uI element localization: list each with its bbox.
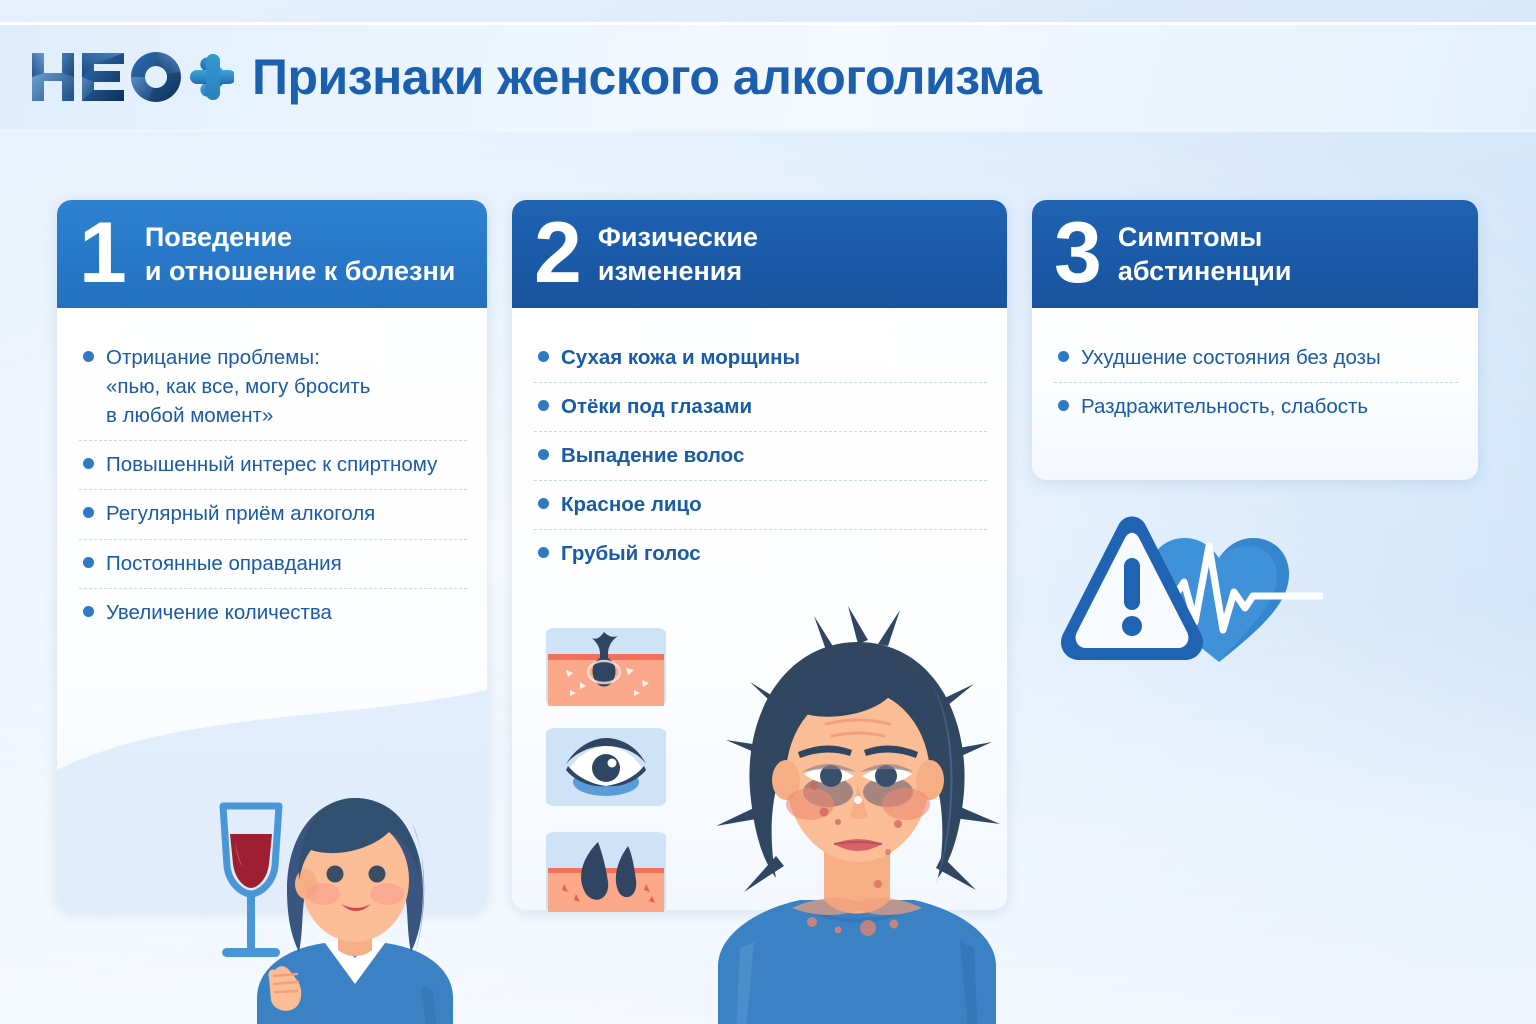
list-item-main: Отрицание проблемы: — [106, 346, 320, 369]
card-number-3: 3 — [1054, 217, 1102, 291]
card-title-3: Симптомы абстиненции — [1118, 220, 1292, 288]
bullet-dot-icon — [538, 498, 549, 509]
list-item: Грубый голос — [534, 530, 987, 578]
list-item: Постоянные оправдания — [79, 540, 467, 589]
bullet-dot-icon — [83, 351, 94, 362]
bullet-dot-icon — [538, 400, 549, 411]
list-item-text: Сухая кожа и морщины — [561, 343, 800, 372]
bullet-dot-icon — [83, 557, 94, 568]
card-number-1: 1 — [79, 217, 127, 291]
infographic-poster: Признаки женского алкоголизма 1 Поведени… — [0, 0, 1536, 1024]
card-title-2: Физические изменения — [598, 220, 758, 288]
list-item: Выпадение волос — [534, 432, 987, 481]
list-item-text: Увеличение количества — [106, 598, 332, 627]
card-body-2: Сухая кожа и морщины Отёки под глазами В… — [512, 308, 1007, 579]
list-item: Сухая кожа и морщины — [534, 334, 987, 383]
list-item: Ухудшение состояния без дозы — [1054, 334, 1458, 383]
list-item-text: Ухудшение состояния без дозы — [1081, 343, 1381, 372]
card-header-2: 2 Физические изменения — [512, 200, 1007, 308]
list-item-text: Грубый голос — [561, 539, 701, 568]
bullet-dot-icon — [538, 351, 549, 362]
card-withdrawal-symptoms: 3 Симптомы абстиненции Ухудшение состоян… — [1032, 200, 1478, 480]
list-item-text: Постоянные оправдания — [106, 549, 342, 578]
bullet-dot-icon — [83, 458, 94, 469]
list-item-text: Красное лицо — [561, 490, 702, 519]
card-title-2-line1: Физические — [598, 220, 758, 254]
warning-triangle-icon — [1061, 517, 1203, 661]
card-header-3: 3 Симптомы абстиненции — [1032, 200, 1478, 308]
list-item-sub2: в любой момент» — [106, 401, 370, 430]
list-item-text: Повышенный интерес к спиртному — [106, 450, 437, 479]
list-item-text: Отрицание проблемы: «пью, как все, могу … — [106, 343, 370, 430]
bullet-dot-icon — [1058, 351, 1069, 362]
card-title-3-line1: Симптомы — [1118, 220, 1292, 254]
list-item: Отёки под глазами — [534, 383, 987, 432]
card-physical-changes: 2 Физические изменения Сухая кожа и морщ… — [512, 200, 1007, 910]
list-item-text: Выпадение волос — [561, 441, 744, 470]
list-item: Отрицание проблемы: «пью, как все, могу … — [79, 334, 467, 441]
list-item-sub1: «пью, как все, могу бросить — [106, 372, 370, 401]
card-title-1: Поведение и отношение к болезни — [145, 220, 456, 288]
card-title-1-line2: и отношение к болезни — [145, 254, 456, 288]
bullet-dot-icon — [83, 507, 94, 518]
list-item: Раздражительность, слабость — [1054, 383, 1458, 431]
bullet-dot-icon — [83, 606, 94, 617]
bullet-dot-icon — [538, 547, 549, 558]
list-item: Регулярный приём алкоголя — [79, 490, 467, 539]
card-body-1: Отрицание проблемы: «пью, как все, могу … — [57, 308, 487, 637]
card-body-3: Ухудшение состояния без дозы Раздражител… — [1032, 308, 1478, 431]
list-item-text: Отёки под глазами — [561, 392, 752, 421]
bullet-dot-icon — [538, 449, 549, 460]
card-1-background-arc — [57, 650, 487, 910]
card-title-2-line2: изменения — [598, 254, 758, 288]
list-item-text: Регулярный приём алкоголя — [106, 499, 375, 528]
list-item-text: Раздражительность, слабость — [1081, 392, 1368, 421]
card-number-2: 2 — [534, 217, 582, 291]
heartbeat-icon — [1145, 538, 1321, 662]
list-item: Повышенный интерес к спиртному — [79, 441, 467, 490]
card-behavior: 1 Поведение и отношение к болезни Отрица… — [57, 200, 487, 910]
list-item: Красное лицо — [534, 481, 987, 530]
cards-container: 1 Поведение и отношение к болезни Отрица… — [0, 0, 1536, 1024]
list-item: Увеличение количества — [79, 589, 467, 637]
card-header-1: 1 Поведение и отношение к болезни — [57, 200, 487, 308]
card-title-1-line1: Поведение — [145, 220, 456, 254]
bullet-dot-icon — [1058, 400, 1069, 411]
card-title-3-line2: абстиненции — [1118, 254, 1292, 288]
warning-and-heartbeat-illustration — [1053, 512, 1323, 672]
